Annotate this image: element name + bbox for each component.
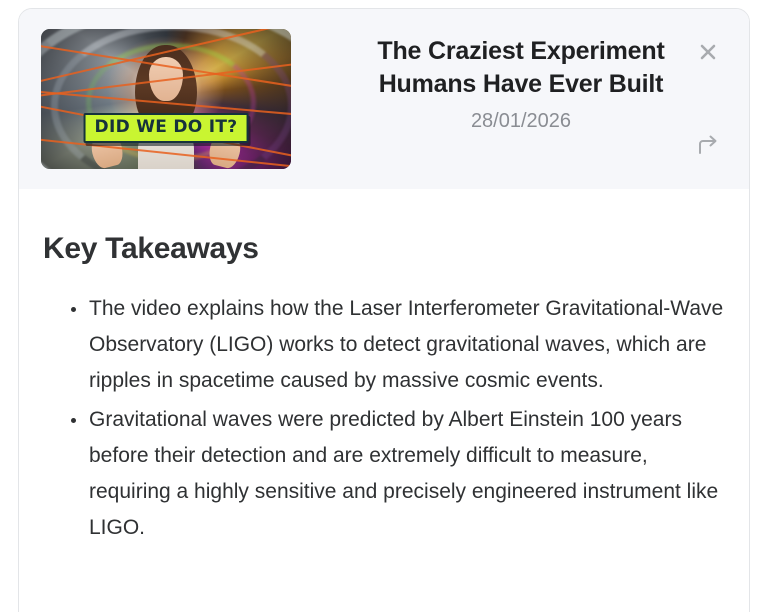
thumbnail-person — [118, 37, 214, 169]
list-item: The video explains how the Laser Interfe… — [69, 291, 725, 399]
close-icon — [697, 41, 719, 63]
thumbnail-caption-banner: DID WE DO IT? — [84, 113, 249, 143]
header-text-column: The Craziest Experiment Humans Have Ever… — [291, 29, 727, 134]
close-button[interactable] — [693, 37, 723, 67]
list-item: Gravitational waves were predicted by Al… — [69, 402, 725, 546]
video-summary-card: DID WE DO IT? The Craziest Experiment Hu… — [18, 8, 750, 612]
share-icon — [696, 134, 720, 158]
share-button[interactable] — [693, 131, 723, 161]
key-takeaways-list: The video explains how the Laser Interfe… — [43, 291, 725, 546]
card-header: DID WE DO IT? The Craziest Experiment Hu… — [19, 9, 749, 189]
viewport: DID WE DO IT? The Craziest Experiment Hu… — [0, 0, 768, 612]
section-title-key-takeaways: Key Takeaways — [43, 231, 725, 267]
video-title: The Craziest Experiment Humans Have Ever… — [315, 35, 727, 101]
video-thumbnail[interactable]: DID WE DO IT? — [41, 29, 291, 169]
header-actions — [685, 29, 731, 171]
thumbnail-caption-text: DID WE DO IT? — [95, 118, 238, 137]
video-date: 28/01/2026 — [315, 108, 727, 134]
card-body: Key Takeaways The video explains how the… — [19, 189, 749, 577]
